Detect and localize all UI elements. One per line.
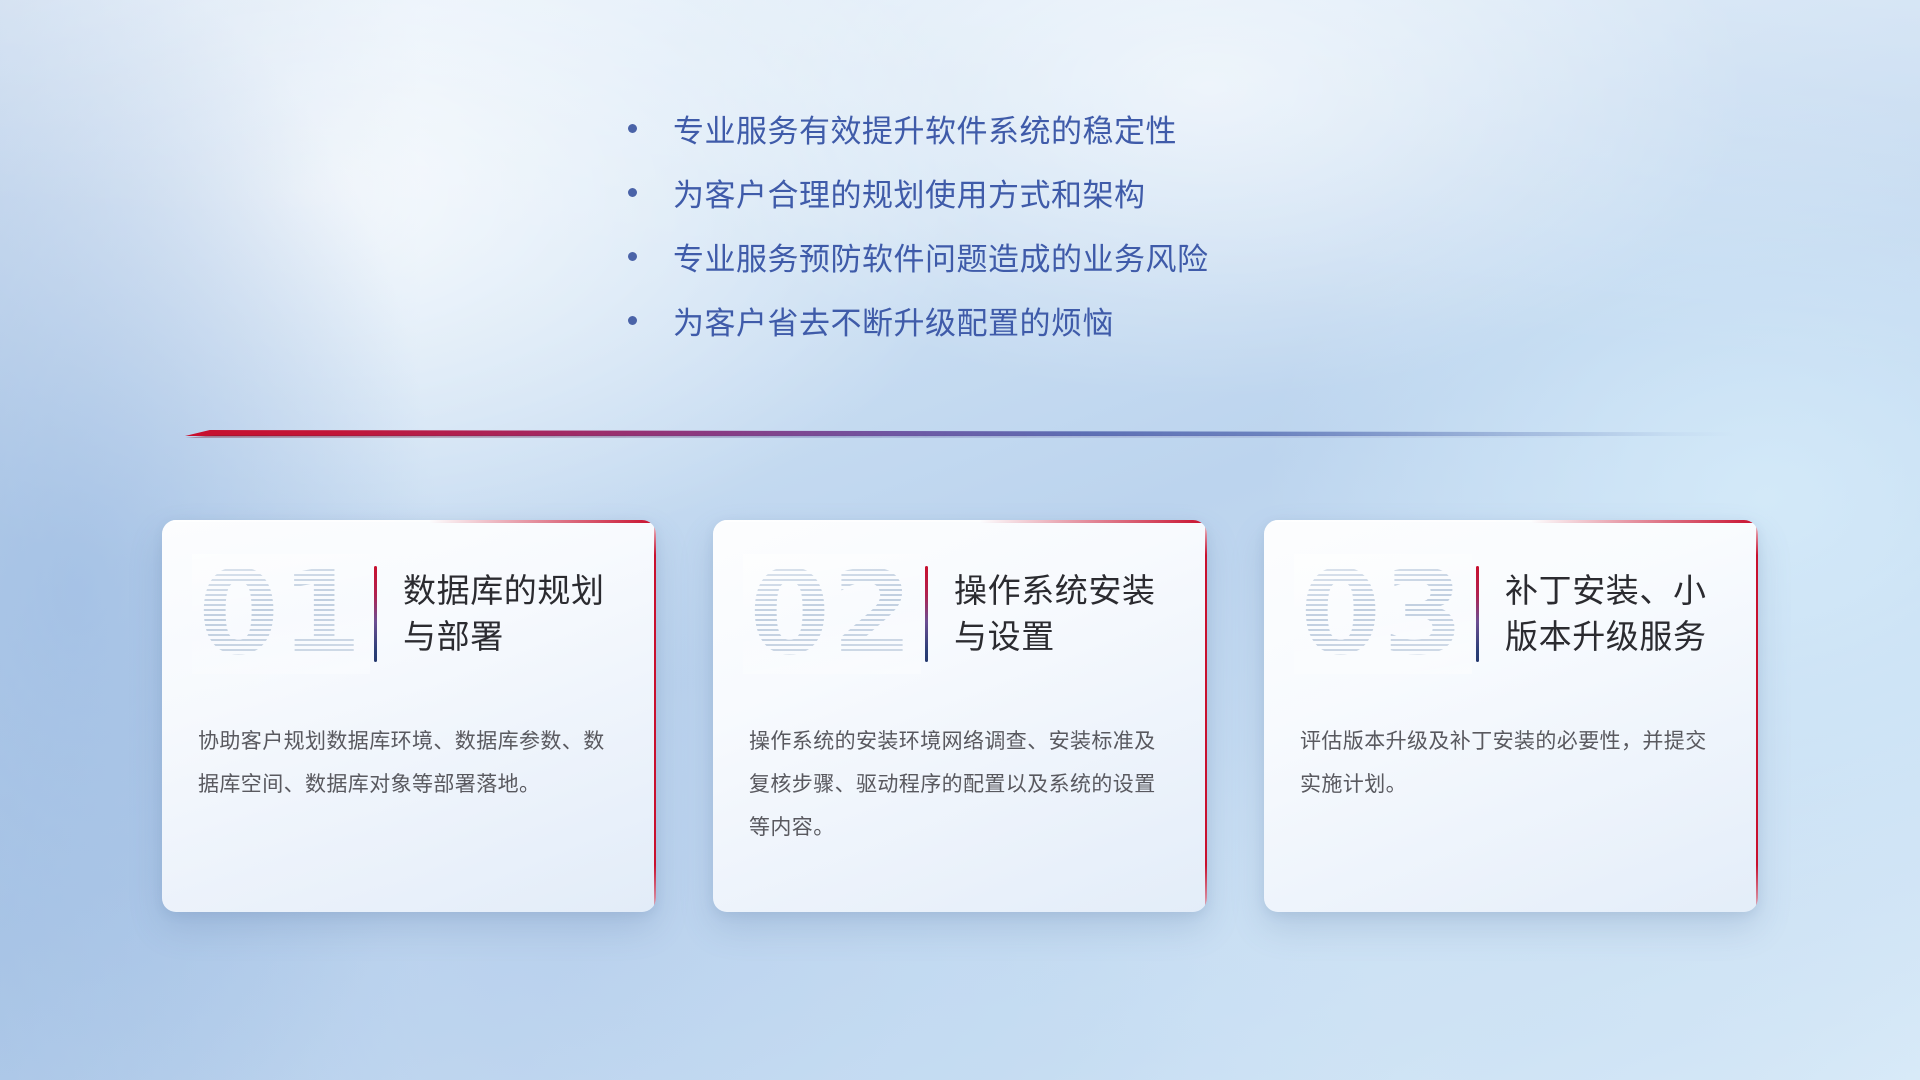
card-header: 01 数据库的规划 与部署 bbox=[162, 520, 656, 708]
list-item: 专业服务有效提升软件系统的稳定性 bbox=[610, 96, 1310, 160]
card-ghost-number: 02 bbox=[743, 554, 921, 674]
card-header: 02 操作系统安装 与设置 bbox=[713, 520, 1207, 708]
card-title: 操作系统安装 与设置 bbox=[954, 568, 1156, 659]
service-card-03[interactable]: 03 补丁安装、小 版本升级服务 评估版本升级及补丁安装的必要性，并提交实施计划… bbox=[1264, 520, 1758, 912]
list-item: 为客户合理的规划使用方式和架构 bbox=[610, 160, 1310, 224]
bullet-dot-icon bbox=[628, 316, 637, 325]
bullet-text: 专业服务预防软件问题造成的业务风险 bbox=[673, 234, 1209, 279]
card-body-text: 协助客户规划数据库环境、数据库参数、数据库空间、数据库对象等部署落地。 bbox=[198, 720, 622, 806]
bullet-dot-icon bbox=[628, 124, 637, 133]
card-title-divider-bar bbox=[374, 566, 377, 662]
list-item: 专业服务预防软件问题造成的业务风险 bbox=[610, 224, 1310, 288]
card-title-line1: 数据库的规划 bbox=[403, 568, 605, 614]
card-title-line2: 版本升级服务 bbox=[1505, 614, 1707, 660]
service-card-01[interactable]: 01 数据库的规划 与部署 协助客户规划数据库环境、数据库参数、数据库空间、数据… bbox=[162, 520, 656, 912]
card-ghost-number: 01 bbox=[192, 554, 370, 674]
card-title-line2: 与部署 bbox=[403, 614, 605, 660]
card-title-divider-bar bbox=[925, 566, 928, 662]
card-title: 数据库的规划 与部署 bbox=[403, 568, 605, 659]
card-title: 补丁安装、小 版本升级服务 bbox=[1505, 568, 1707, 659]
bullet-dot-icon bbox=[628, 188, 637, 197]
card-body-text: 操作系统的安装环境网络调查、安装标准及复核步骤、驱动程序的配置以及系统的设置等内… bbox=[749, 720, 1173, 849]
ghost-number-text: 02 bbox=[743, 554, 921, 674]
card-title-divider-bar bbox=[1476, 566, 1479, 662]
benefits-bullet-list: 专业服务有效提升软件系统的稳定性 为客户合理的规划使用方式和架构 专业服务预防软… bbox=[0, 96, 1920, 352]
bullet-text: 为客户合理的规划使用方式和架构 bbox=[673, 170, 1146, 215]
section-divider bbox=[185, 427, 1735, 439]
bullet-text: 专业服务有效提升软件系统的稳定性 bbox=[673, 106, 1177, 151]
card-title-line2: 与设置 bbox=[954, 614, 1156, 660]
card-title-line1: 补丁安装、小 bbox=[1505, 568, 1707, 614]
bullet-dot-icon bbox=[628, 252, 637, 261]
list-item: 为客户省去不断升级配置的烦恼 bbox=[610, 288, 1310, 352]
ghost-number-text: 01 bbox=[192, 554, 370, 674]
card-header: 03 补丁安装、小 版本升级服务 bbox=[1264, 520, 1758, 708]
service-cards-row: 01 数据库的规划 与部署 协助客户规划数据库环境、数据库参数、数据库空间、数据… bbox=[0, 520, 1920, 912]
card-ghost-number: 03 bbox=[1294, 554, 1472, 674]
ghost-number-text: 03 bbox=[1294, 554, 1472, 674]
card-body-text: 评估版本升级及补丁安装的必要性，并提交实施计划。 bbox=[1300, 720, 1724, 806]
bullet-text: 为客户省去不断升级配置的烦恼 bbox=[673, 298, 1114, 343]
service-card-02[interactable]: 02 操作系统安装 与设置 操作系统的安装环境网络调查、安装标准及复核步骤、驱动… bbox=[713, 520, 1207, 912]
card-title-line1: 操作系统安装 bbox=[954, 568, 1156, 614]
